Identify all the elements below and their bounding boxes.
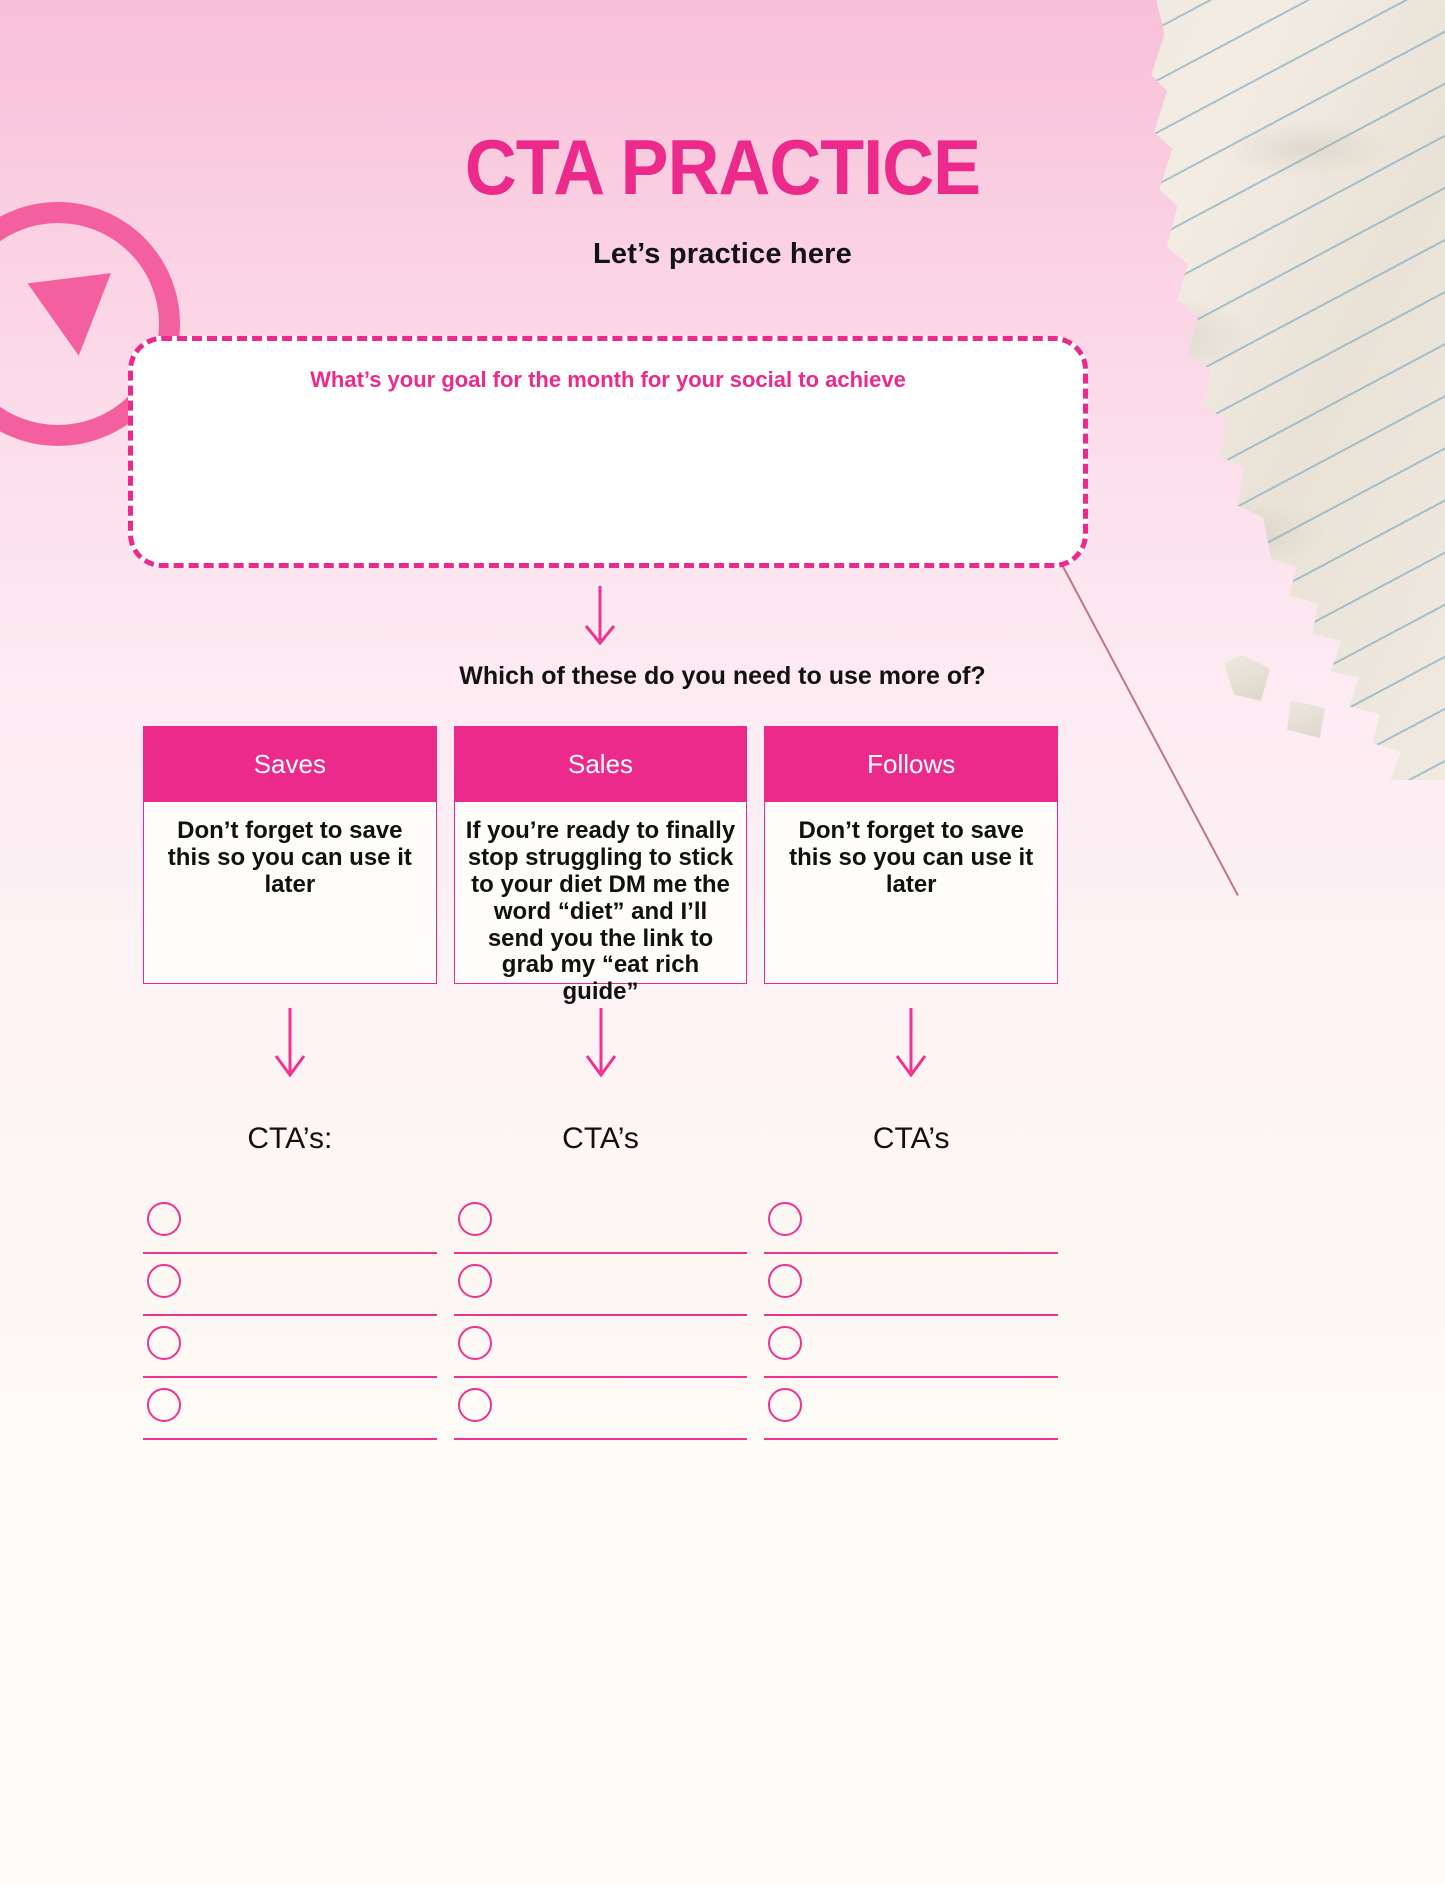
cta-write-row[interactable] (764, 1322, 1058, 1384)
checkbox-circle-icon[interactable] (458, 1202, 492, 1236)
arrow-down-icon (889, 1008, 933, 1080)
cta-list-follows (764, 1198, 1058, 1446)
category-column-sales: Sales If you’re ready to finally stop st… (454, 726, 748, 984)
category-columns: Saves Don’t forget to save this so you c… (143, 726, 1058, 984)
write-line (764, 1376, 1058, 1378)
checkbox-circle-icon[interactable] (147, 1388, 181, 1422)
cta-write-row[interactable] (143, 1198, 437, 1260)
checkbox-circle-icon[interactable] (768, 1264, 802, 1298)
arrow-slot (143, 1008, 437, 1080)
cta-lists (143, 1198, 1058, 1446)
column-example-text: Don’t forget to save this so you can use… (764, 802, 1058, 984)
paper-torn-flake (1287, 700, 1325, 738)
write-line (454, 1314, 748, 1316)
checkbox-circle-icon[interactable] (768, 1326, 802, 1360)
cta-labels-row: CTA’s: CTA’s CTA’s (143, 1122, 1058, 1156)
page-title: CTA PRACTICE (58, 128, 1387, 206)
checkbox-circle-icon[interactable] (458, 1264, 492, 1298)
cta-write-row[interactable] (764, 1198, 1058, 1260)
write-line (143, 1252, 437, 1254)
cta-write-row[interactable] (143, 1322, 437, 1384)
cta-label-sales: CTA’s (454, 1122, 748, 1156)
arrow-down-icon (578, 586, 622, 648)
column-header: Follows (764, 726, 1058, 802)
cta-list-saves (143, 1198, 437, 1446)
write-line (454, 1438, 748, 1440)
column-header: Saves (143, 726, 437, 802)
checkbox-circle-icon[interactable] (768, 1202, 802, 1236)
cta-list-sales (454, 1198, 748, 1446)
write-line (143, 1438, 437, 1440)
checkbox-circle-icon[interactable] (458, 1326, 492, 1360)
write-line (143, 1314, 437, 1316)
cta-write-row[interactable] (764, 1384, 1058, 1446)
write-line (454, 1252, 748, 1254)
arrow-slot (764, 1008, 1058, 1080)
write-line (143, 1376, 437, 1378)
write-line (764, 1252, 1058, 1254)
cta-write-row[interactable] (764, 1260, 1058, 1322)
column-arrows (143, 1008, 1058, 1080)
checkbox-circle-icon[interactable] (768, 1388, 802, 1422)
arrow-down-icon (579, 1008, 623, 1080)
checkbox-circle-icon[interactable] (147, 1264, 181, 1298)
checkbox-circle-icon[interactable] (147, 1326, 181, 1360)
column-example-text: If you’re ready to finally stop struggli… (454, 802, 748, 984)
goal-input-label: What’s your goal for the month for your … (133, 367, 1083, 393)
cta-write-row[interactable] (454, 1384, 748, 1446)
cta-label-follows: CTA’s (764, 1122, 1058, 1156)
cta-write-row[interactable] (143, 1260, 437, 1322)
arrow-slot (454, 1008, 748, 1080)
page-subtitle: Let’s practice here (0, 238, 1445, 271)
cta-write-row[interactable] (454, 1198, 748, 1260)
column-example-text: Don’t forget to save this so you can use… (143, 802, 437, 984)
triangle-down-icon (28, 273, 121, 361)
cta-write-row[interactable] (143, 1384, 437, 1446)
cta-label-saves: CTA’s: (143, 1122, 437, 1156)
checkbox-circle-icon[interactable] (458, 1388, 492, 1422)
cta-write-row[interactable] (454, 1322, 748, 1384)
category-column-follows: Follows Don’t forget to save this so you… (764, 726, 1058, 984)
worksheet-page: CTA PRACTICE Let’s practice here What’s … (0, 0, 1445, 1885)
write-line (764, 1438, 1058, 1440)
question-text: Which of these do you need to use more o… (0, 662, 1445, 691)
column-header: Sales (454, 726, 748, 802)
checkbox-circle-icon[interactable] (147, 1202, 181, 1236)
write-line (764, 1314, 1058, 1316)
goal-input-box[interactable]: What’s your goal for the month for your … (128, 336, 1088, 568)
write-line (454, 1376, 748, 1378)
arrow-down-icon (268, 1008, 312, 1080)
category-column-saves: Saves Don’t forget to save this so you c… (143, 726, 437, 984)
cta-write-row[interactable] (454, 1260, 748, 1322)
